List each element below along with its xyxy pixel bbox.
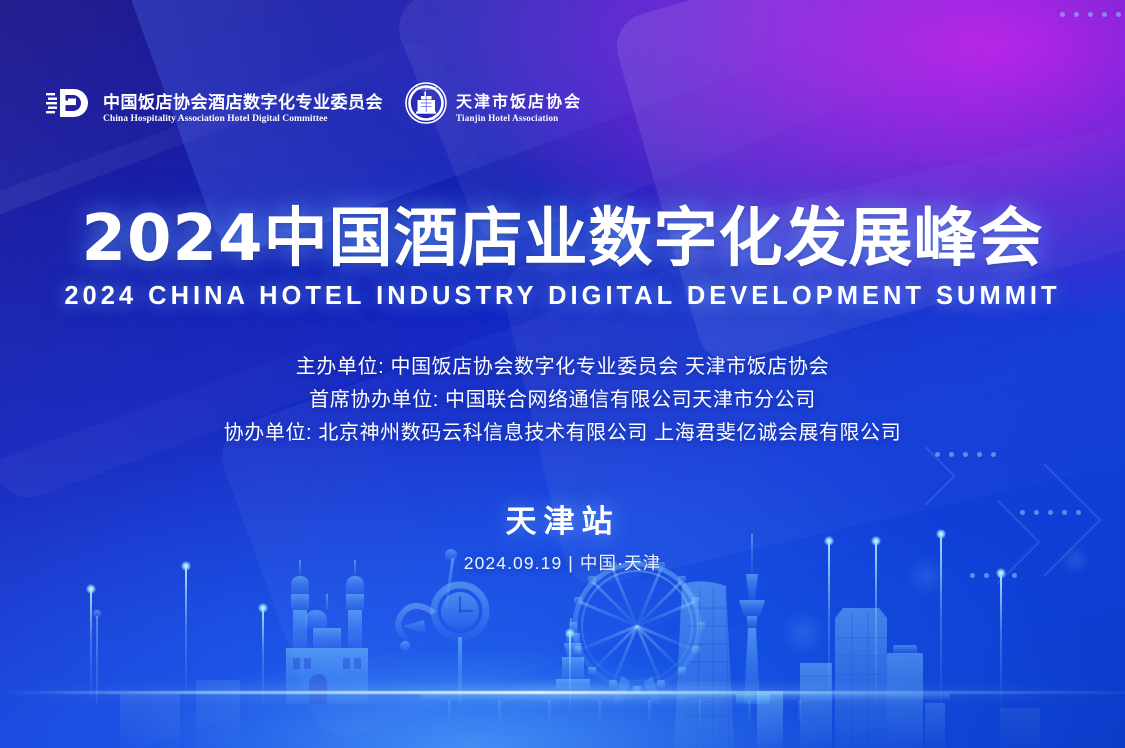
- poster-content: 2024中国酒店业数字化发展峰会 2024 CHINA HOTEL INDUST…: [0, 0, 1125, 575]
- organizer-line-chief-coorganizer: 首席协办单位: 中国联合网络通信有限公司天津市分公司: [0, 384, 1125, 417]
- light-streak: [0, 691, 1125, 694]
- event-title-en: 2024 CHINA HOTEL INDUSTRY DIGITAL DEVELO…: [0, 282, 1125, 311]
- organizer-line-host: 主办单位: 中国饭店协会数字化专业委员会 天津市饭店协会: [0, 351, 1125, 384]
- station-name: 天津站: [0, 496, 1125, 541]
- organizer-line-coorganizer: 协办单位: 北京神州数码云科信息技术有限公司 上海君斐亿诚会展有限公司: [0, 417, 1125, 450]
- organizer-list: 主办单位: 中国饭店协会数字化专业委员会 天津市饭店协会 首席协办单位: 中国联…: [0, 351, 1125, 450]
- event-poster: 中国饭店协会酒店数字化专业委员会 China Hospitality Assoc…: [0, 0, 1125, 748]
- date-location: 2024.09.19 | 中国·天津: [0, 550, 1125, 575]
- event-title-cn: 2024中国酒店业数字化发展峰会: [0, 206, 1125, 274]
